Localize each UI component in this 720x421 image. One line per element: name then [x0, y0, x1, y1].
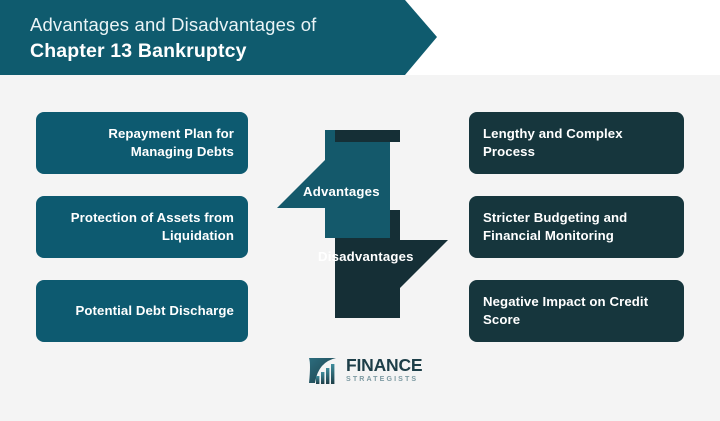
- header-banner: Advantages and Disadvantages of Chapter …: [0, 0, 437, 75]
- logo-word-secondary: STRATEGISTS: [346, 374, 422, 384]
- logo-wordmark: FINANCE STRATEGISTS: [346, 357, 422, 384]
- infographic-canvas: Advantages and Disadvantages of Chapter …: [0, 0, 720, 421]
- disadvantages-label: Disadvantages: [318, 249, 414, 264]
- advantages-label: Advantages: [303, 184, 380, 199]
- advantage-card-2[interactable]: Protection of Assets from Liquidation: [36, 196, 248, 258]
- finance-strategists-logo[interactable]: FINANCE STRATEGISTS: [306, 352, 430, 388]
- arrows-svg: [270, 130, 455, 325]
- logo-word-primary: FINANCE: [346, 357, 422, 374]
- advantage-card-3-label: Potential Debt Discharge: [76, 302, 235, 320]
- advantage-card-3[interactable]: Potential Debt Discharge: [36, 280, 248, 342]
- disadvantage-card-2[interactable]: Stricter Budgeting and Financial Monitor…: [469, 196, 684, 258]
- arrow-right-upper-stub: [335, 130, 400, 142]
- advantage-card-1-label: Repayment Plan for Managing Debts: [48, 125, 234, 161]
- disadvantage-card-1-label: Lengthy and Complex Process: [483, 125, 672, 161]
- page-title-line-2: Chapter 13 Bankruptcy: [30, 38, 437, 64]
- disadvantage-card-3-label: Negative Impact on Credit Score: [483, 293, 672, 329]
- disadvantage-card-1[interactable]: Lengthy and Complex Process: [469, 112, 684, 174]
- center-arrows-group: Advantages Disadvantages: [270, 130, 455, 325]
- advantage-card-1[interactable]: Repayment Plan for Managing Debts: [36, 112, 248, 174]
- advantage-card-2-label: Protection of Assets from Liquidation: [48, 209, 234, 245]
- disadvantage-card-2-label: Stricter Budgeting and Financial Monitor…: [483, 209, 672, 245]
- disadvantage-card-3[interactable]: Negative Impact on Credit Score: [469, 280, 684, 342]
- page-title-line-1: Advantages and Disadvantages of: [30, 12, 437, 38]
- finance-strategists-chart-logo-icon: [306, 354, 342, 386]
